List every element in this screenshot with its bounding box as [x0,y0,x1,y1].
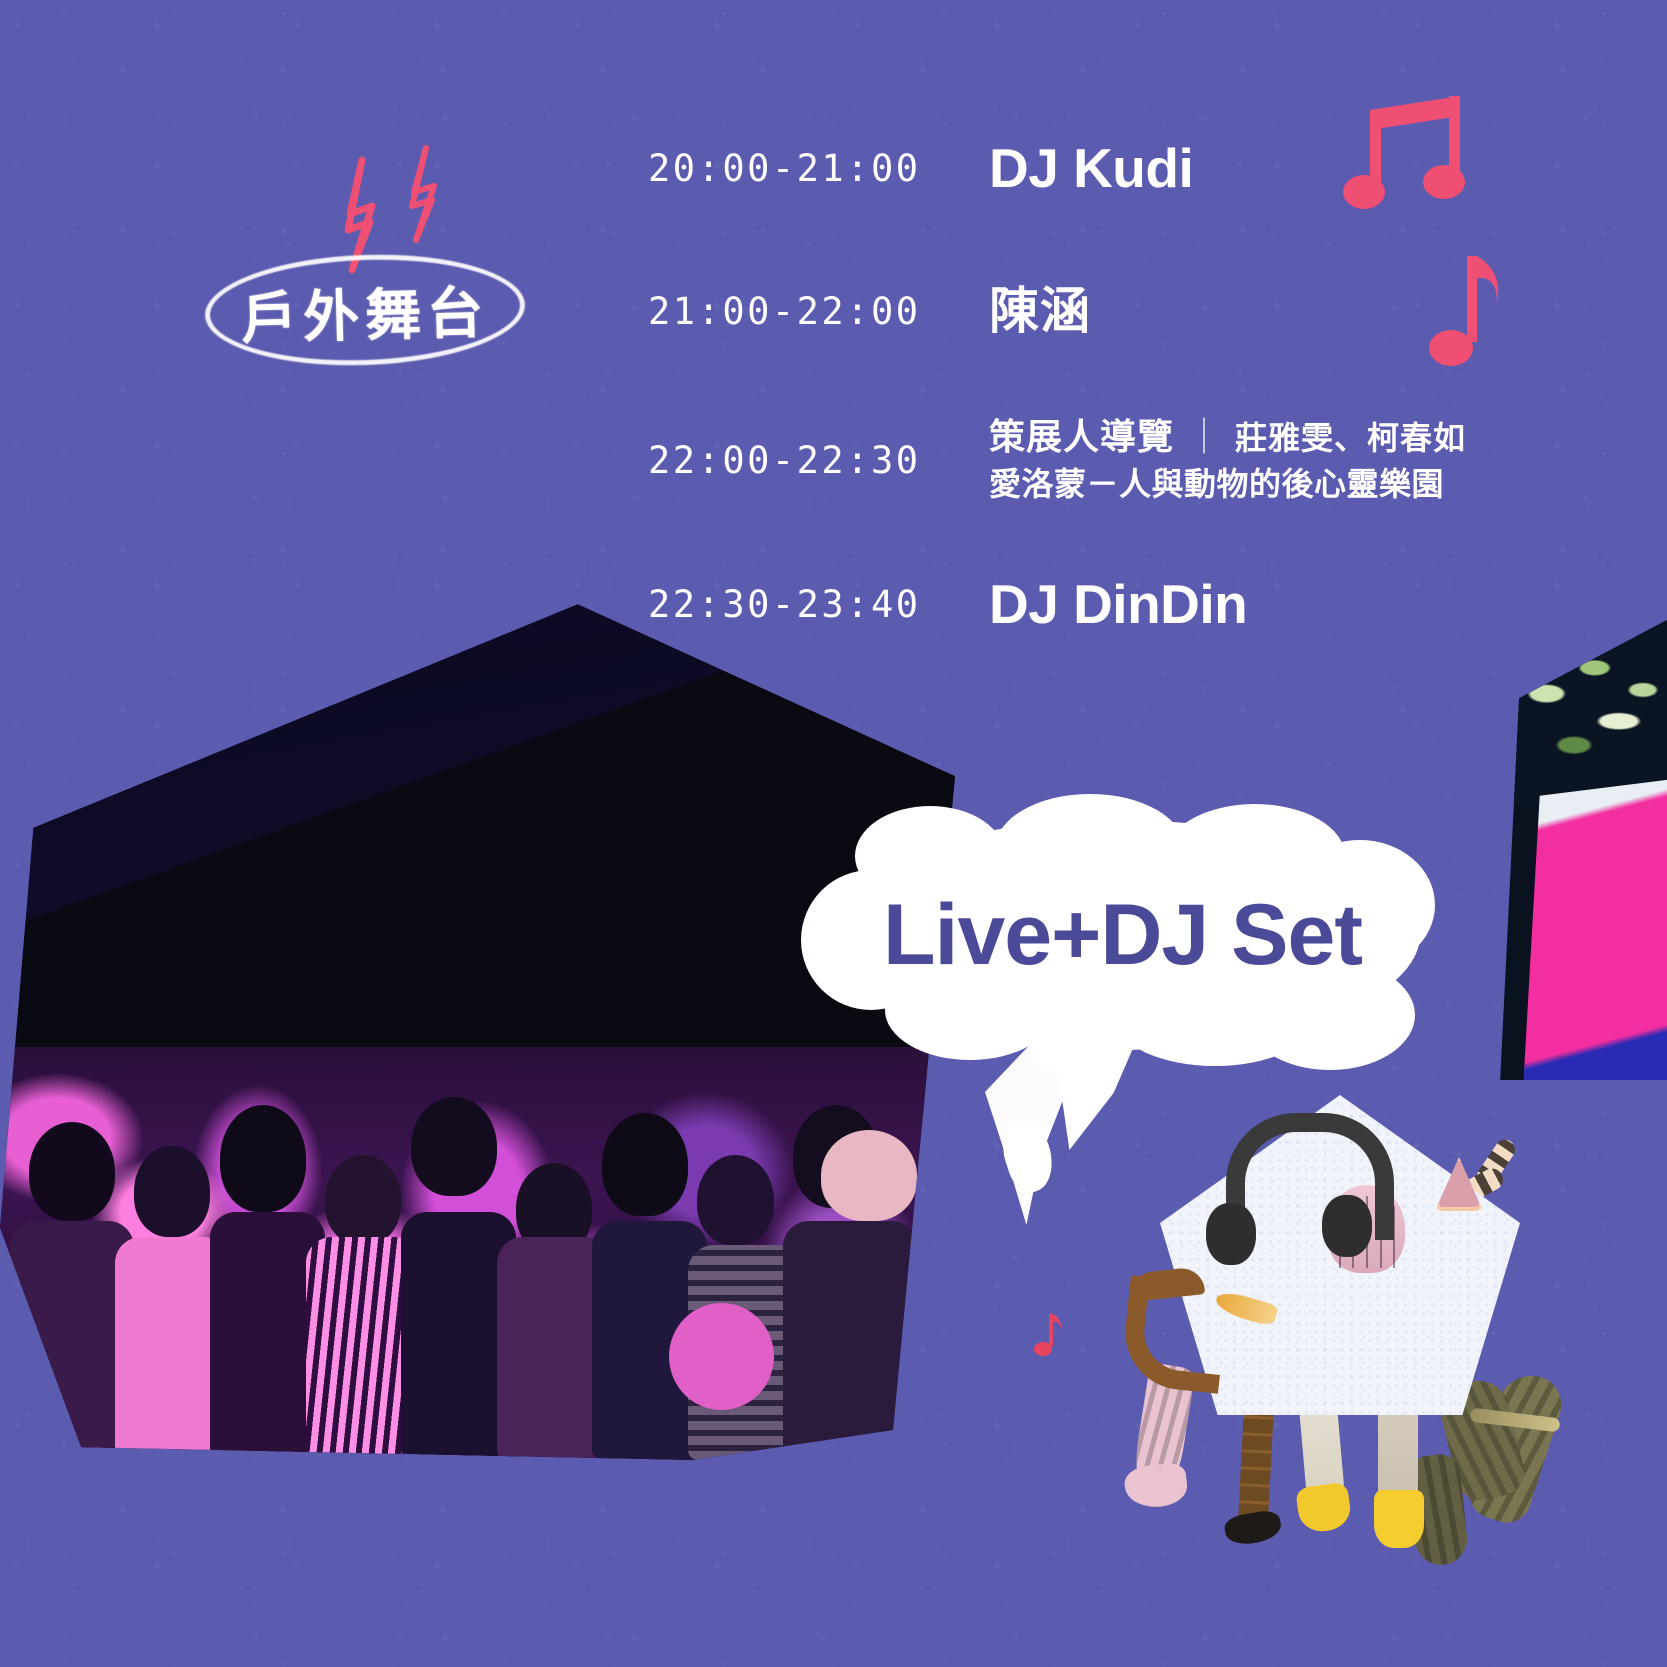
schedule-time: 22:30-23:40 [648,586,953,623]
poster-canvas: 戶外舞台 20:00-21:00 DJ Kudi [0,0,1667,1667]
schedule-row: 22:30-23:40 DJ DinDin [648,576,1528,634]
schedule-time: 20:00-21:00 [648,150,953,187]
schedule-act: DJ Kudi [953,140,1193,198]
mascot-headphone-cup [1322,1195,1372,1257]
mascot-hoof [1223,1508,1283,1547]
schedule-time: 22:00-22:30 [648,442,953,479]
act-name: 陳涵 [989,284,1091,339]
schedule-act: 策展人導覽｜莊雅雯、柯春如 愛洛蒙－人與動物的後心靈樂園 [953,413,1466,508]
schedule-act: DJ DinDin [953,576,1247,634]
photo-crowd [0,1047,955,1460]
talk-speakers: 莊雅雯、柯春如 [1235,420,1466,456]
schedule-list: 20:00-21:00 DJ Kudi 21:00-22:00 陳涵 22:00… [648,140,1528,679]
live-dj-set-bubble: Live+DJ Set [815,820,1420,1050]
talk-title: 策展人導覽 [989,416,1174,457]
schedule-row: 20:00-21:00 DJ Kudi [648,140,1528,198]
crowd-photo [0,600,955,1460]
mascot-foot [1123,1462,1189,1510]
schedule-row: 22:00-22:30 策展人導覽｜莊雅雯、柯春如 愛洛蒙－人與動物的後心靈樂園 [648,413,1528,508]
talk-subtitle: 愛洛蒙－人與動物的後心靈樂園 [989,461,1466,507]
stage-label-text: 戶外舞台 [204,267,526,356]
mascot-yellow-sock [1374,1490,1424,1548]
stage-label-badge: 戶外舞台 [205,255,525,365]
schedule-row: 21:00-22:00 陳涵 [648,284,1528,339]
pentagon-creature-with-headphones-icon [1030,1035,1630,1595]
bubble-text: Live+DJ Set [815,820,1420,1050]
mascot-yellow-sock [1295,1482,1353,1535]
schedule-time: 21:00-22:00 [648,293,953,330]
schedule-act: 陳涵 [953,284,1091,339]
act-name: DJ Kudi [989,140,1193,198]
right-photo-sliver [1495,620,1667,1080]
talk-heading: 策展人導覽｜莊雅雯、柯春如 [989,413,1466,462]
talk-separator: ｜ [1174,416,1235,457]
mascot-headphone-cup [1206,1203,1256,1265]
act-name: DJ DinDin [989,576,1247,634]
